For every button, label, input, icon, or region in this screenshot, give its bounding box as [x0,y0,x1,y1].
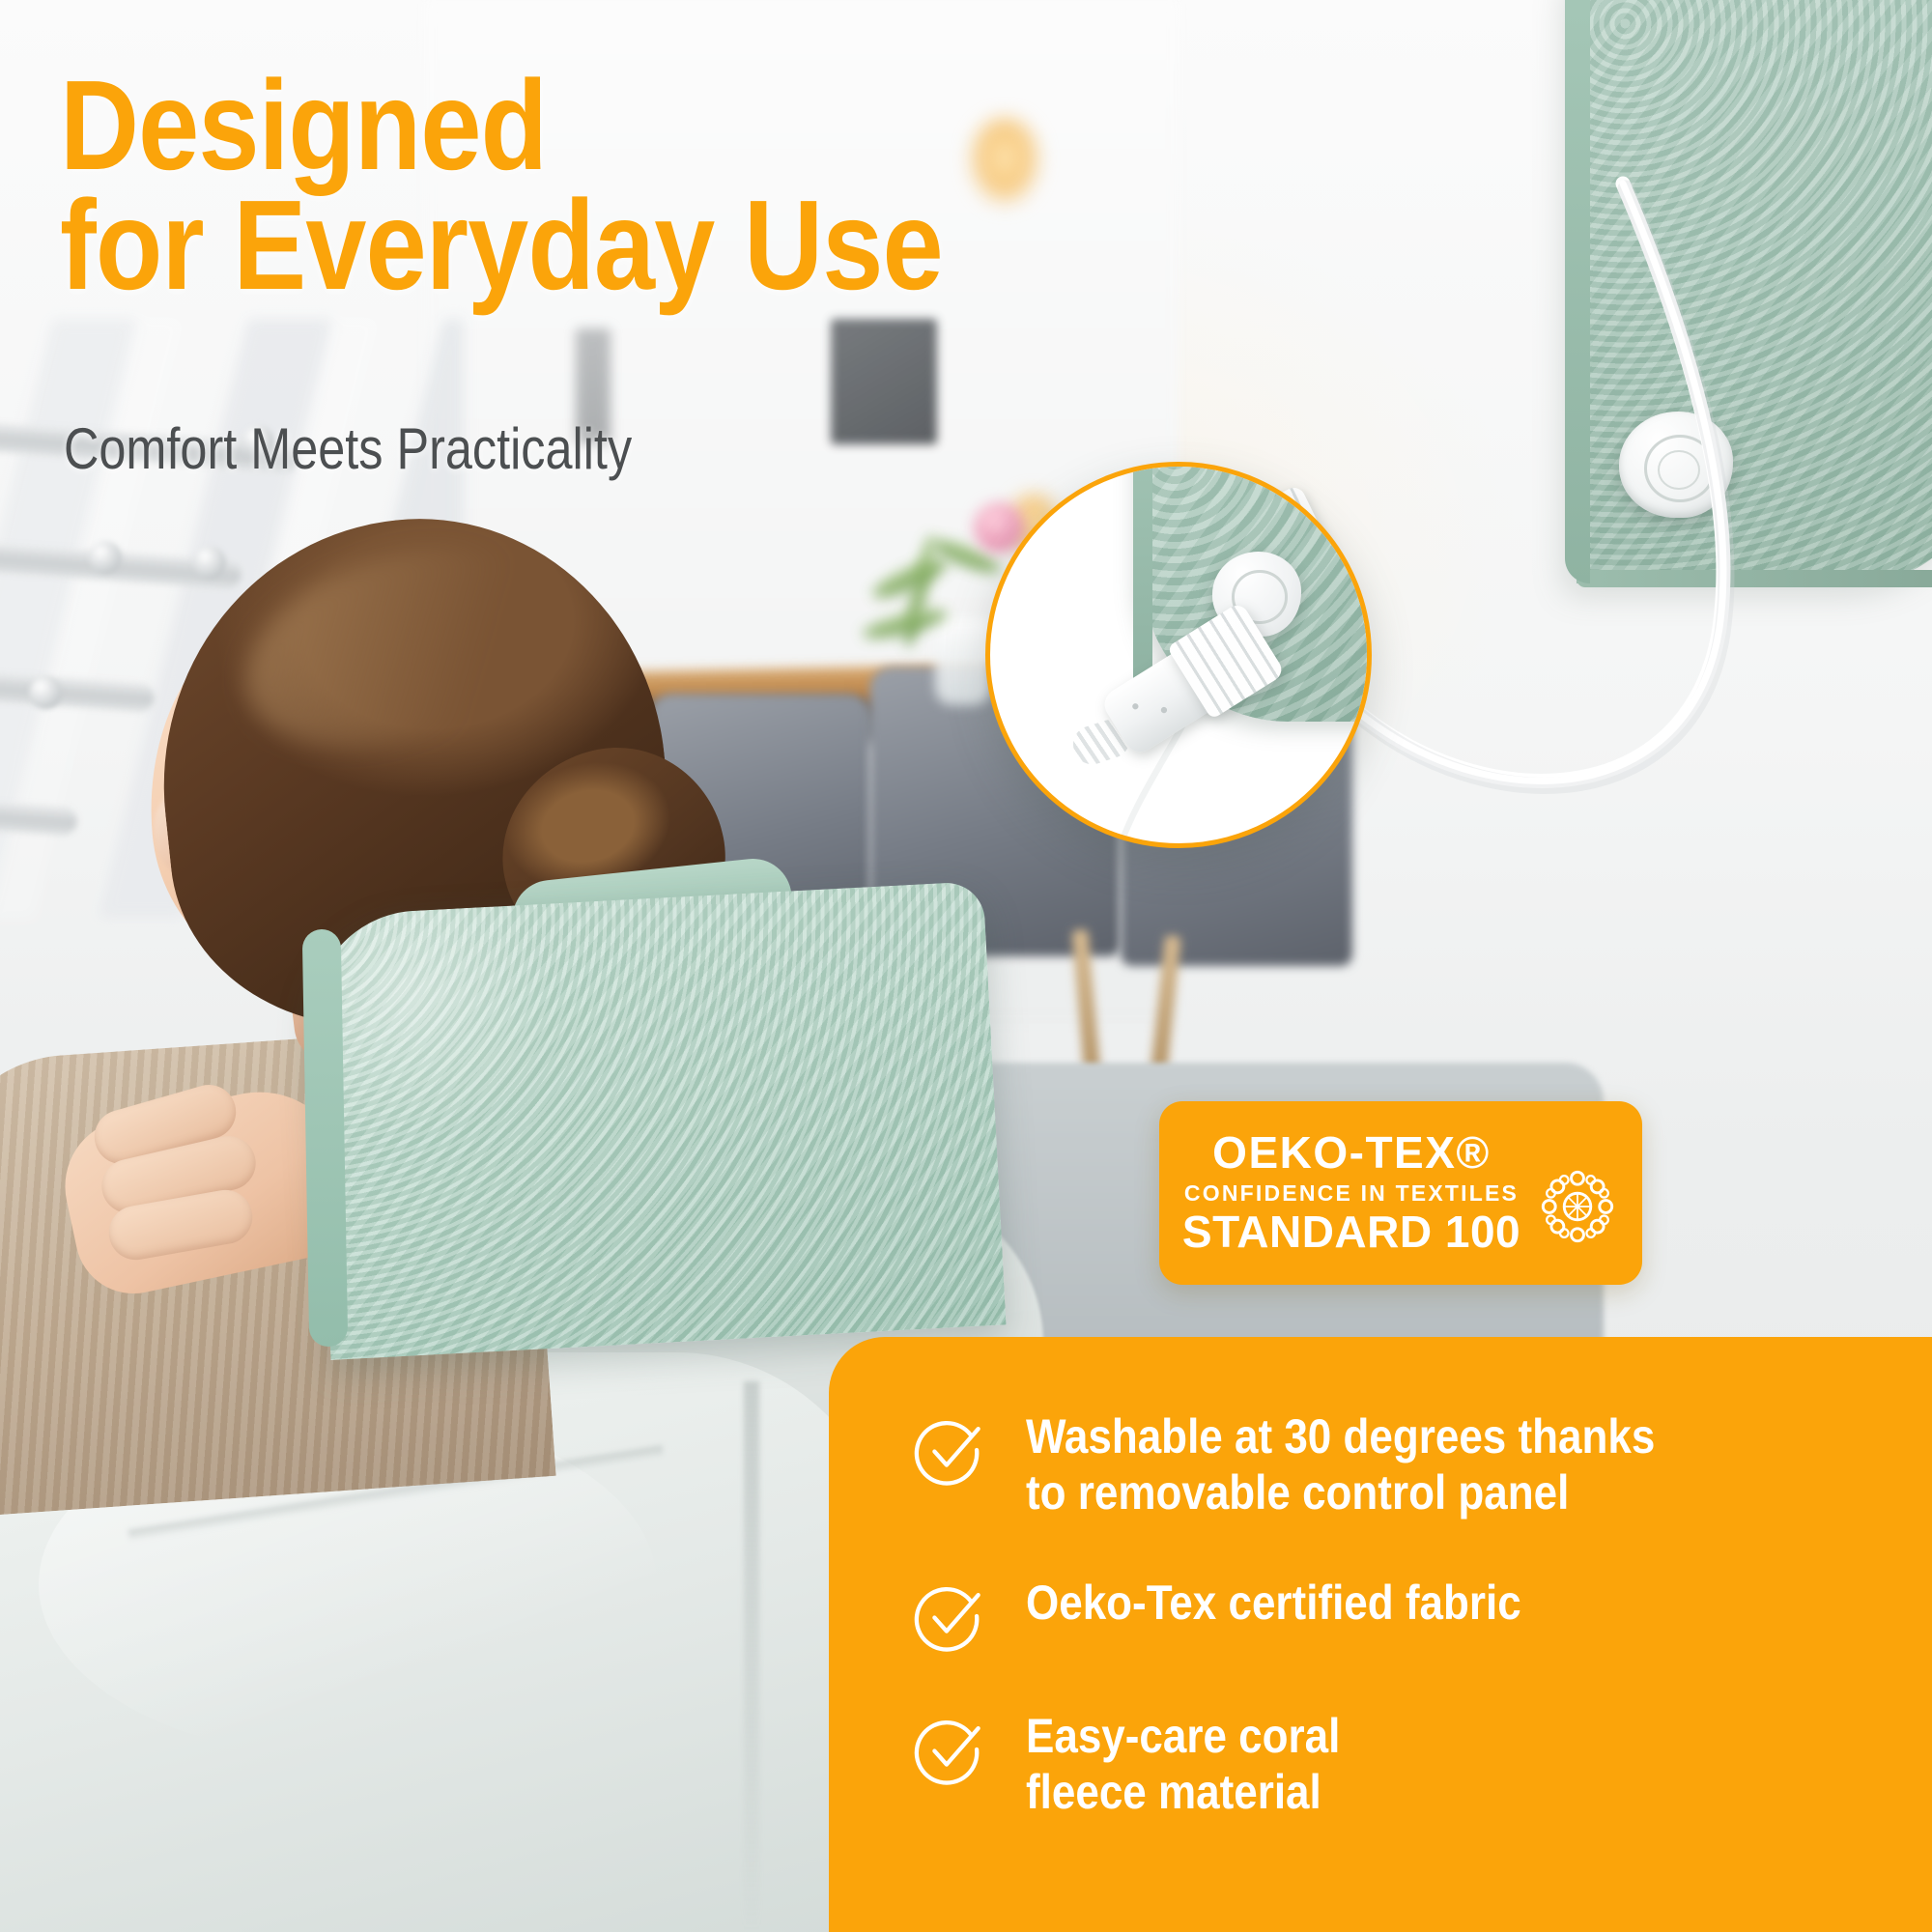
page-subtitle: Comfort Meets Practicality [64,415,875,482]
feature-text: Oeko-Tex certified fabric [1026,1575,1521,1631]
headline-line-1: Designed [60,66,1015,185]
heating-pad-on-shoulders [307,881,1006,1360]
plug-vent-dot [1160,706,1169,715]
list-item: Washable at 30 degrees thanks to removab… [912,1408,1878,1520]
feature-text: Easy-care coral fleece material [1026,1708,1340,1820]
headline-line-2: for Everyday Use [60,185,1015,305]
plug-vent-dot [1131,702,1140,711]
heating-pad-hem [1577,570,1932,587]
features-panel: Washable at 30 degrees thanks to removab… [829,1337,1932,1932]
badge-line-1: OEKO-TEX® [1212,1130,1491,1177]
detail-zoom-circle [985,462,1372,848]
status-badge: OEKO-TEX® CONFIDENCE IN TEXTILES STANDAR… [1159,1101,1642,1285]
product-marketing-banner: Designed for Everyday Use Comfort Meets … [0,0,1932,1932]
badge-line-2: CONFIDENCE IN TEXTILES [1184,1177,1519,1210]
feature-text: Washable at 30 degrees thanks to removab… [1026,1408,1655,1520]
control-panel-socket [1619,412,1733,518]
list-item: Easy-care coral fleece material [912,1708,1878,1820]
oeko-tex-flower-icon [1536,1165,1619,1248]
check-circle-icon [912,1412,987,1488]
flower-vase [935,618,991,705]
page-title: Designed for Everyday Use [60,66,1015,305]
list-item: Oeko-Tex certified fabric [912,1575,1878,1654]
check-circle-icon [912,1712,987,1787]
check-circle-icon [912,1578,987,1654]
badge-line-3: STANDARD 100 [1182,1209,1520,1256]
